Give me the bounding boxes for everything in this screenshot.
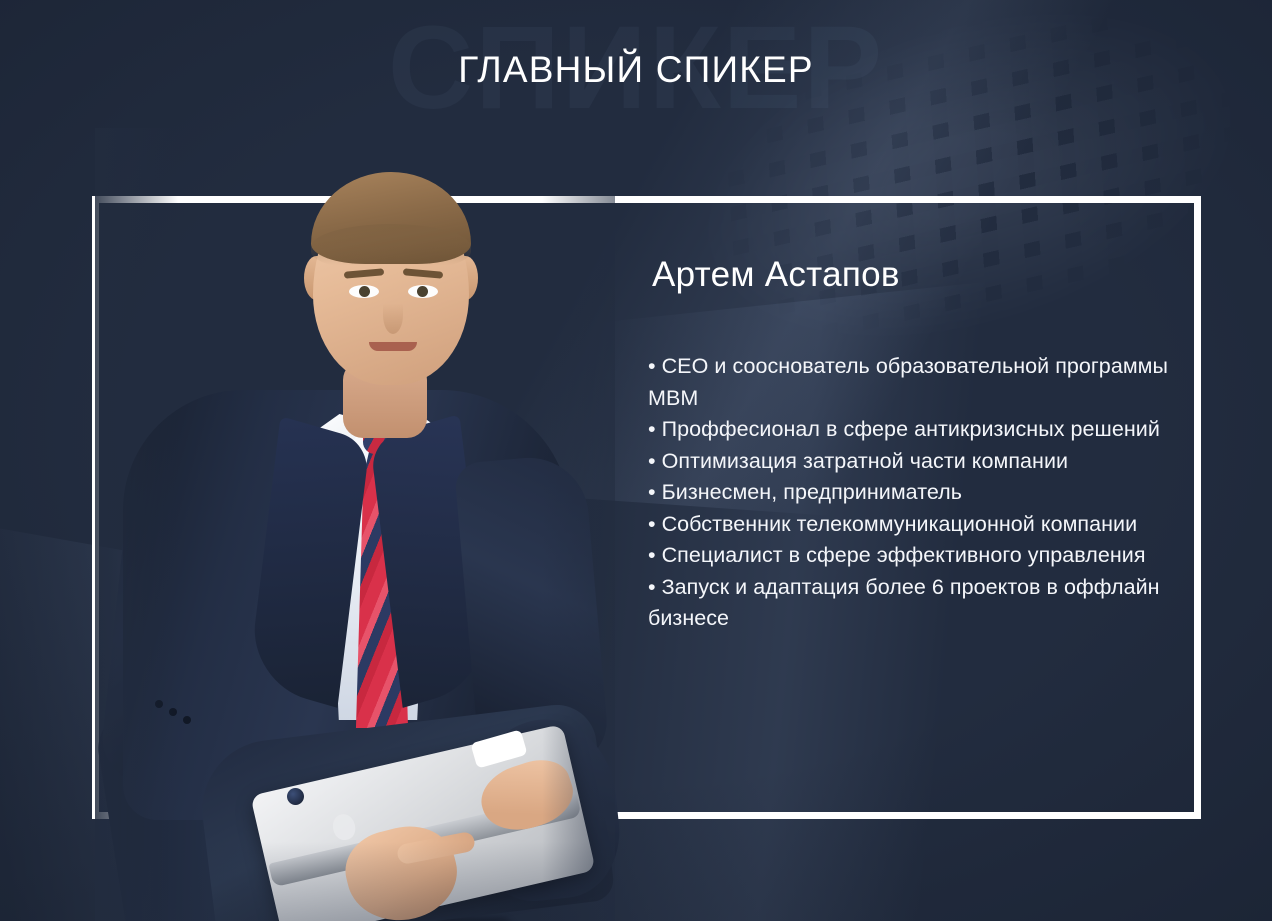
list-item: • Проффесионал в сфере антикризисных реш… [648,414,1168,446]
list-item: • Оптимизация затратной части компании [648,446,1168,478]
list-item: • Специалист в сфере эффективного управл… [648,540,1168,572]
list-item: • Запуск и адаптация более 6 проектов в … [648,572,1168,635]
nose [383,296,403,334]
hairline-fade [311,224,471,270]
sleeve-buttons [155,700,163,708]
speaker-photo [95,128,615,921]
speaker-name: Артем Астапов [652,255,1168,295]
pupil-left [359,286,370,297]
speaker-credentials-list: • CEO и сооснователь образовательной про… [648,351,1168,635]
pupil-right [417,286,428,297]
list-item: • CEO и сооснователь образовательной про… [648,351,1168,414]
speaker-profile: Артем Астапов • CEO и сооснователь образ… [648,255,1168,635]
page-title: ГЛАВНЫЙ СПИКЕР [0,49,1272,91]
speaker-slide: СПИКЕР ГЛАВНЫЙ СПИКЕР [0,0,1272,921]
list-item: • Собственник телекоммуникационной компа… [648,509,1168,541]
jacket-button [287,788,304,805]
list-item: • Бизнесмен, предприниматель [648,477,1168,509]
mouth [369,342,417,351]
